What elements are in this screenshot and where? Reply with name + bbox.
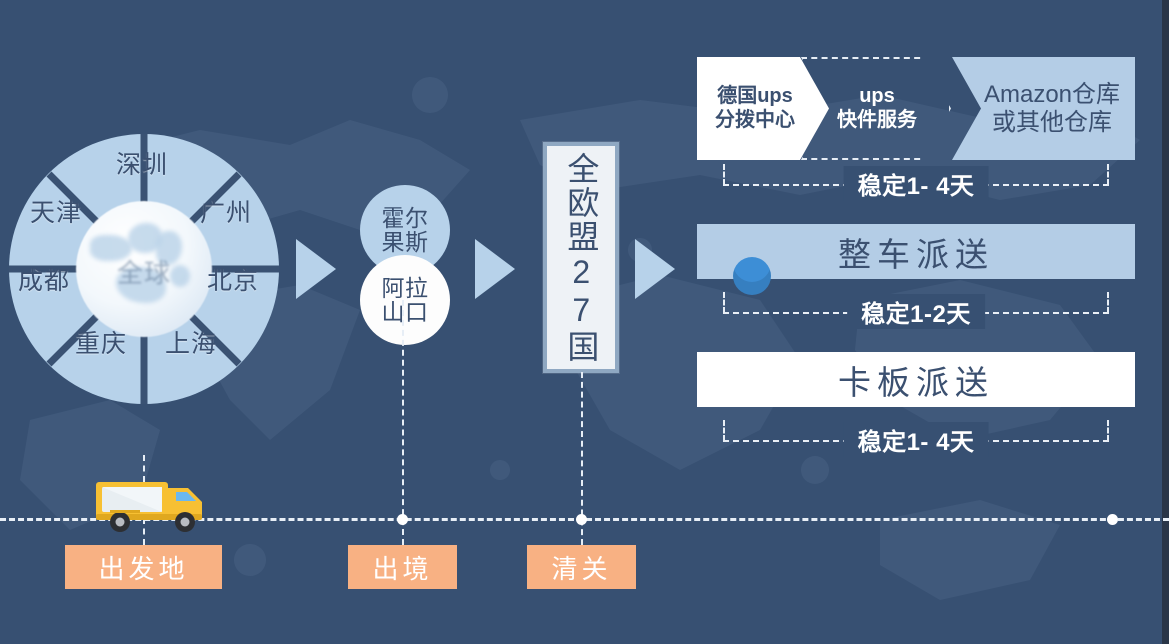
truckload-delivery-label: 整车派送 xyxy=(838,228,994,276)
chevron-amazon-warehouse[interactable]: Amazon仓库 或其他仓库 xyxy=(923,57,1135,160)
chevron-amazon-warehouse-line1: Amazon仓库 xyxy=(984,81,1120,109)
ups-chevron-banner: 德国ups 分拨中心 ups 快件服务 Amazon仓库 或其他仓库 xyxy=(697,57,1135,160)
stage-clearance-label: 清关 xyxy=(551,549,611,586)
timeline-drop-departure xyxy=(402,300,404,545)
border-port-khorgas-label: 霍尔果斯 xyxy=(376,206,434,255)
eta-bracket-ups: 稳定1- 4天 xyxy=(723,164,1109,186)
wheel-segment-shenzhen[interactable]: 深圳 xyxy=(116,145,168,181)
customs-eu27-label: 全欧盟27国 xyxy=(565,152,598,364)
stage-clearance[interactable]: 清关 xyxy=(527,545,636,589)
wheel-segment-chengdu[interactable]: 成都 xyxy=(18,261,70,297)
chevron-ups-hub-line1: 德国ups xyxy=(717,85,793,108)
stage-origin-label: 出发地 xyxy=(98,549,188,586)
eta-bracket-ups-label: 稳定1- 4天 xyxy=(844,166,989,201)
border-port-alashankou-label: 阿拉山口 xyxy=(380,276,430,325)
eta-bracket-truckload-label: 稳定1-2天 xyxy=(847,294,985,329)
pallet-delivery-bar[interactable]: 卡板派送 xyxy=(697,352,1135,407)
bracket-tick-right xyxy=(1107,164,1109,185)
arrow-customs-to-delivery xyxy=(635,239,675,299)
origin-cities-wheel[interactable]: 全球 深圳 广州 北京 上海 重庆 成都 天津 xyxy=(8,133,280,405)
timeline-dot-clearance xyxy=(576,514,587,525)
customs-eu27-box[interactable]: 全欧盟27国 xyxy=(543,142,619,373)
bracket-tick-left xyxy=(723,420,725,441)
bracket-tick-left xyxy=(723,292,725,313)
eta-bracket-truckload: 稳定1-2天 xyxy=(723,292,1109,314)
bracket-tick-right xyxy=(1107,292,1109,313)
chevron-ups-hub-line2: 分拨中心 xyxy=(715,109,795,132)
eta-bracket-pallet-label: 稳定1- 4天 xyxy=(844,422,989,457)
right-edge-bar xyxy=(1162,0,1169,644)
arrow-origin-to-border xyxy=(296,239,336,299)
wheel-segment-guangzhou[interactable]: 广州 xyxy=(200,193,252,229)
bracket-tick-right xyxy=(1107,420,1109,441)
globe-center-label: 全球 xyxy=(76,253,212,290)
wheel-segment-tianjin[interactable]: 天津 xyxy=(30,193,82,229)
wheel-segment-beijing[interactable]: 北京 xyxy=(207,261,259,297)
cursor-dot xyxy=(733,257,771,295)
bracket-tick-left xyxy=(723,164,725,185)
stage-departure-label: 出境 xyxy=(372,549,432,586)
timeline-dot-destination xyxy=(1107,514,1118,525)
chevron-amazon-warehouse-line2: 或其他仓库 xyxy=(992,109,1112,137)
arrow-border-to-customs xyxy=(475,239,515,299)
globe-icon: 全球 xyxy=(76,201,212,337)
logistics-flow-diagram: 全球 深圳 广州 北京 上海 重庆 成都 天津 霍尔果斯 阿拉山口 全欧盟27国… xyxy=(0,0,1169,644)
stage-departure[interactable]: 出境 xyxy=(348,545,457,589)
wheel-segment-shanghai[interactable]: 上海 xyxy=(165,324,217,360)
pallet-delivery-label: 卡板派送 xyxy=(838,356,994,404)
stage-origin[interactable]: 出发地 xyxy=(65,545,222,589)
border-port-alashankou[interactable]: 阿拉山口 xyxy=(360,255,450,345)
timeline-dot-departure xyxy=(397,514,408,525)
wheel-segment-chongqing[interactable]: 重庆 xyxy=(75,324,127,360)
delivery-truck-icon xyxy=(90,470,212,536)
eta-bracket-pallet: 稳定1- 4天 xyxy=(723,420,1109,442)
